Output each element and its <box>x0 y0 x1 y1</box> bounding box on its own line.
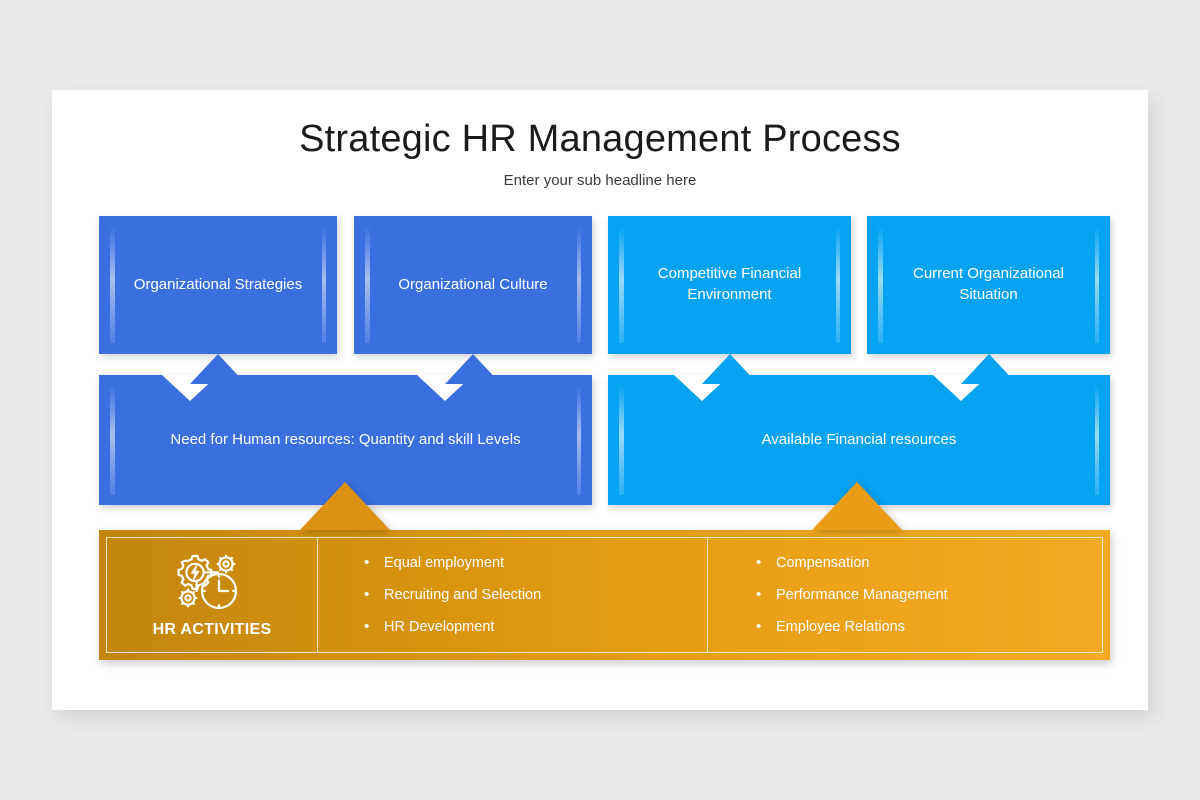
bullet-dot-icon: • <box>756 619 776 634</box>
list-item: • Performance Management <box>756 587 1102 603</box>
hr-activities-list-right: • Compensation • Performance Management … <box>708 537 1103 653</box>
gloss-stripe-left-icon <box>878 227 883 343</box>
gloss-stripe-right-icon <box>322 227 326 343</box>
arrow-down-comp-fin-env-icon <box>702 354 758 384</box>
gloss-stripe-right-icon <box>577 227 581 343</box>
list-item-label: Performance Management <box>776 587 948 603</box>
list-item-label: HR Development <box>384 619 494 635</box>
hr-activities-label: HR ACTIVITIES <box>153 621 272 639</box>
gears-clock-lightning-icon <box>174 551 250 613</box>
list-item-label: Recruiting and Selection <box>384 587 541 603</box>
box-label: Competitive Financial Environment <box>626 264 833 305</box>
bullet-dot-icon: • <box>756 555 776 570</box>
slide-card: Strategic HR Management Process Enter yo… <box>52 90 1148 710</box>
gloss-stripe-right-icon <box>1095 385 1099 494</box>
process-diagram: Organizational Strategies Organizational… <box>52 90 1148 710</box>
arrow-down-human-resources-icon <box>300 482 390 530</box>
gloss-stripe-right-icon <box>836 227 840 343</box>
gloss-stripe-left-icon <box>110 385 115 494</box>
bullet-dot-icon: • <box>364 555 384 570</box>
gloss-stripe-left-icon <box>619 385 624 494</box>
list-item: • HR Development <box>364 619 707 635</box>
box-label: Organizational Culture <box>398 275 547 296</box>
box-current-organizational-situation[interactable]: Current Organizational Situation <box>867 216 1110 354</box>
list-item-label: Employee Relations <box>776 619 905 635</box>
list-item: • Equal employment <box>364 555 707 571</box>
arrow-down-org-culture-icon <box>445 354 501 384</box>
hr-activities-list-left: • Equal employment • Recruiting and Sele… <box>318 537 708 653</box>
gloss-stripe-right-icon <box>577 385 581 494</box>
hr-activities-panel[interactable]: HR ACTIVITIES <box>106 537 318 653</box>
bullet-dot-icon: • <box>364 587 384 602</box>
list-item-label: Compensation <box>776 555 870 571</box>
list-item: • Employee Relations <box>756 619 1102 635</box>
arrow-down-current-org-sit-icon <box>961 354 1017 384</box>
gloss-stripe-left-icon <box>365 227 370 343</box>
gloss-stripe-left-icon <box>110 227 115 343</box>
arrow-down-financial-resources-icon <box>812 482 902 530</box>
gloss-stripe-left-icon <box>619 227 624 343</box>
arrow-down-org-strategies-icon <box>190 354 246 384</box>
list-item: • Compensation <box>756 555 1102 571</box>
hr-activities-bar: HR ACTIVITIES • Equal employment • Recru… <box>99 530 1110 660</box>
box-organizational-culture[interactable]: Organizational Culture <box>354 216 592 354</box>
box-organizational-strategies[interactable]: Organizational Strategies <box>99 216 337 354</box>
box-label: Need for Human resources: Quantity and s… <box>170 430 520 451</box>
list-item: • Recruiting and Selection <box>364 587 707 603</box>
box-competitive-financial-environment[interactable]: Competitive Financial Environment <box>608 216 851 354</box>
box-label: Current Organizational Situation <box>885 264 1092 305</box>
bullet-dot-icon: • <box>364 619 384 634</box>
box-label: Available Financial resources <box>762 430 957 451</box>
bullet-dot-icon: • <box>756 587 776 602</box>
box-label: Organizational Strategies <box>134 275 302 296</box>
gloss-stripe-right-icon <box>1095 227 1099 343</box>
list-item-label: Equal employment <box>384 555 504 571</box>
